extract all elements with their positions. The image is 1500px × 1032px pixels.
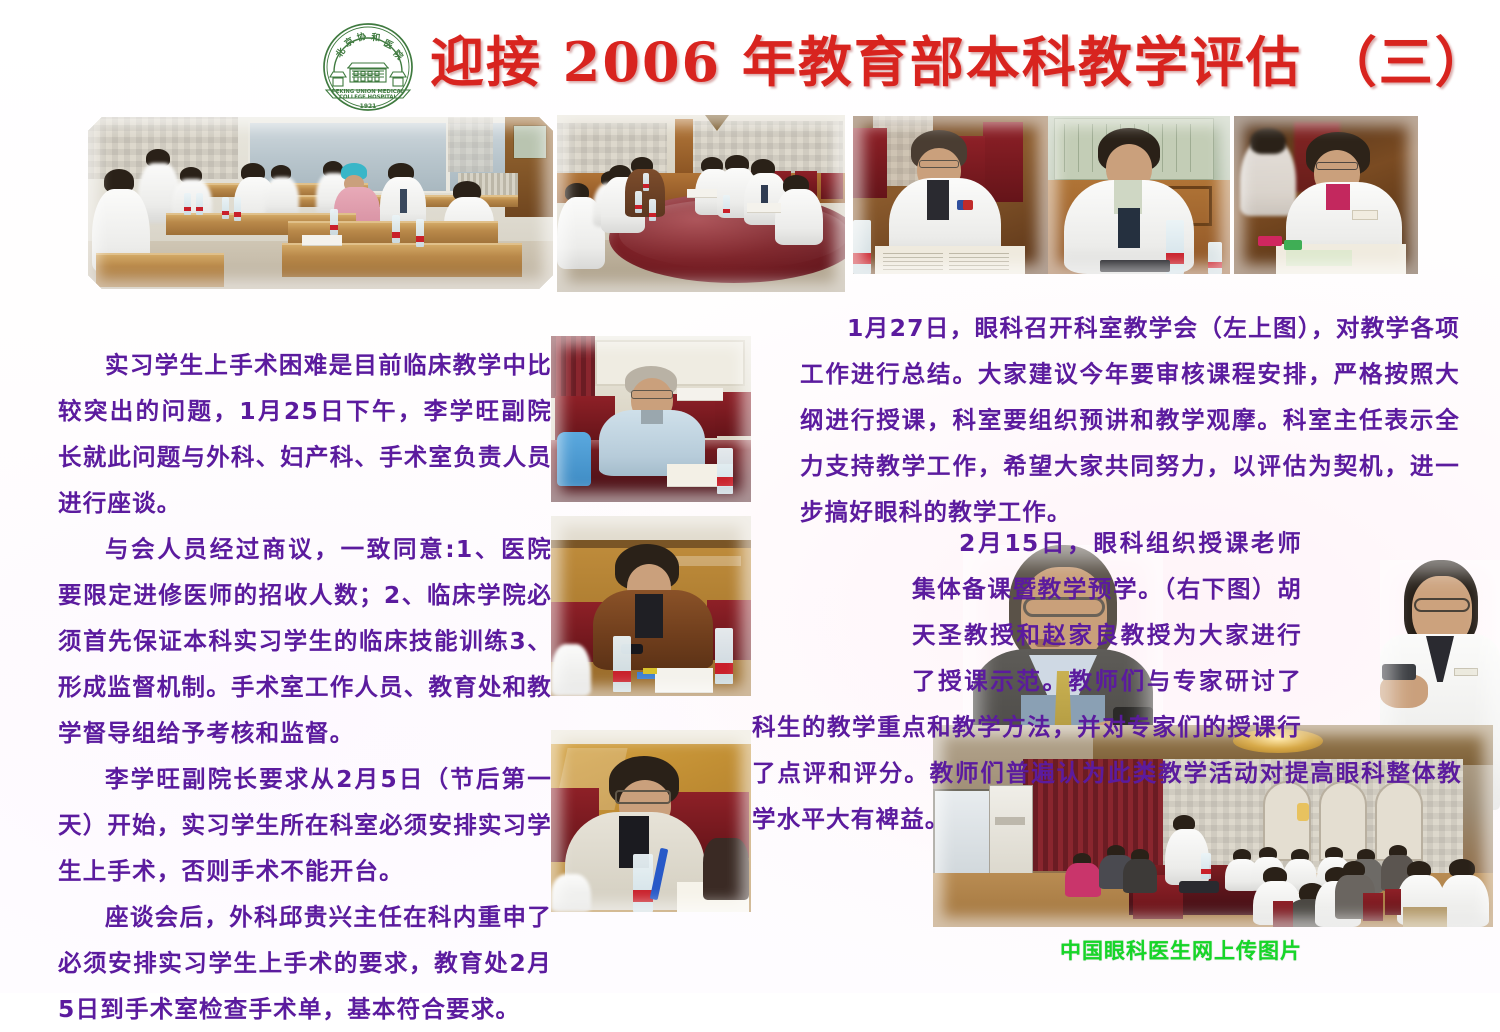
page-title: 迎接 2006 年教育部本科教学评估 （三） [430, 26, 1290, 98]
svg-text:和: 和 [370, 31, 381, 44]
photo-man-writing-notes [551, 730, 751, 912]
left-paragraph-3: 李学旺副院长要求从2月5日（节后第一天）开始，实习学生所在科室必须安排实习学生上… [58, 756, 552, 894]
text-wrap-reserve-professor-right [1302, 520, 1462, 710]
svg-text:协: 协 [356, 30, 368, 44]
photo-elderly-professor-speaking [551, 336, 751, 502]
peking-union-medical-college-hospital-logo: 北 京 协 和 医 院 [316, 20, 420, 115]
logo-year: 1921 [360, 103, 377, 110]
upload-credit-caption: 中国眼科医生网上传图片 [1060, 935, 1302, 965]
photo-portrait-female-doctor-glasses [1234, 116, 1418, 274]
article-right-column-bottom: 2月15日，眼科组织授课老师集体备课暨教学预学。（右下图）胡天圣教授和赵家良教授… [752, 520, 1462, 842]
svg-text:北: 北 [333, 45, 348, 59]
left-paragraph-1: 实习学生上手术困难是目前临床教学中比较突出的问题，1月25日下午，李学旺副院长就… [58, 342, 552, 526]
photo-portrait-senior-female-doctor [853, 116, 1048, 274]
photo-classroom-roundtable [88, 117, 553, 289]
left-paragraph-2: 与会人员经过商议，一致同意:1、医院要限定进修医师的招收人数；2、临床学院必须首… [58, 526, 552, 756]
logo-latin-line-2: COLLEGE HOSPITAL [339, 95, 397, 101]
left-paragraph-4: 座谈会后，外科邱贵兴主任在科内重申了必须安排实习学生上手术的要求，教育处2月5日… [58, 894, 552, 1032]
photo-portrait-male-doctor [1048, 116, 1230, 274]
article-right-column-top: 1月27日，眼科召开科室教学会（左上图），对教学各项工作进行总结。大家建议今年要… [800, 305, 1460, 535]
poster-header: 北 京 协 和 医 院 [0, 0, 1500, 110]
photo-man-brown-jacket [551, 516, 751, 696]
right-paragraph-1: 1月27日，眼科召开科室教学会（左上图），对教学各项工作进行总结。大家建议今年要… [800, 305, 1460, 535]
photo-conference-room-oval-table [557, 115, 845, 292]
text-wrap-reserve-professor-left [752, 520, 912, 670]
poster-canvas: 北 京 协 和 医 院 [0, 0, 1500, 993]
article-left-column: 实习学生上手术困难是目前临床教学中比较突出的问题，1月25日下午，李学旺副院长就… [58, 342, 552, 1032]
